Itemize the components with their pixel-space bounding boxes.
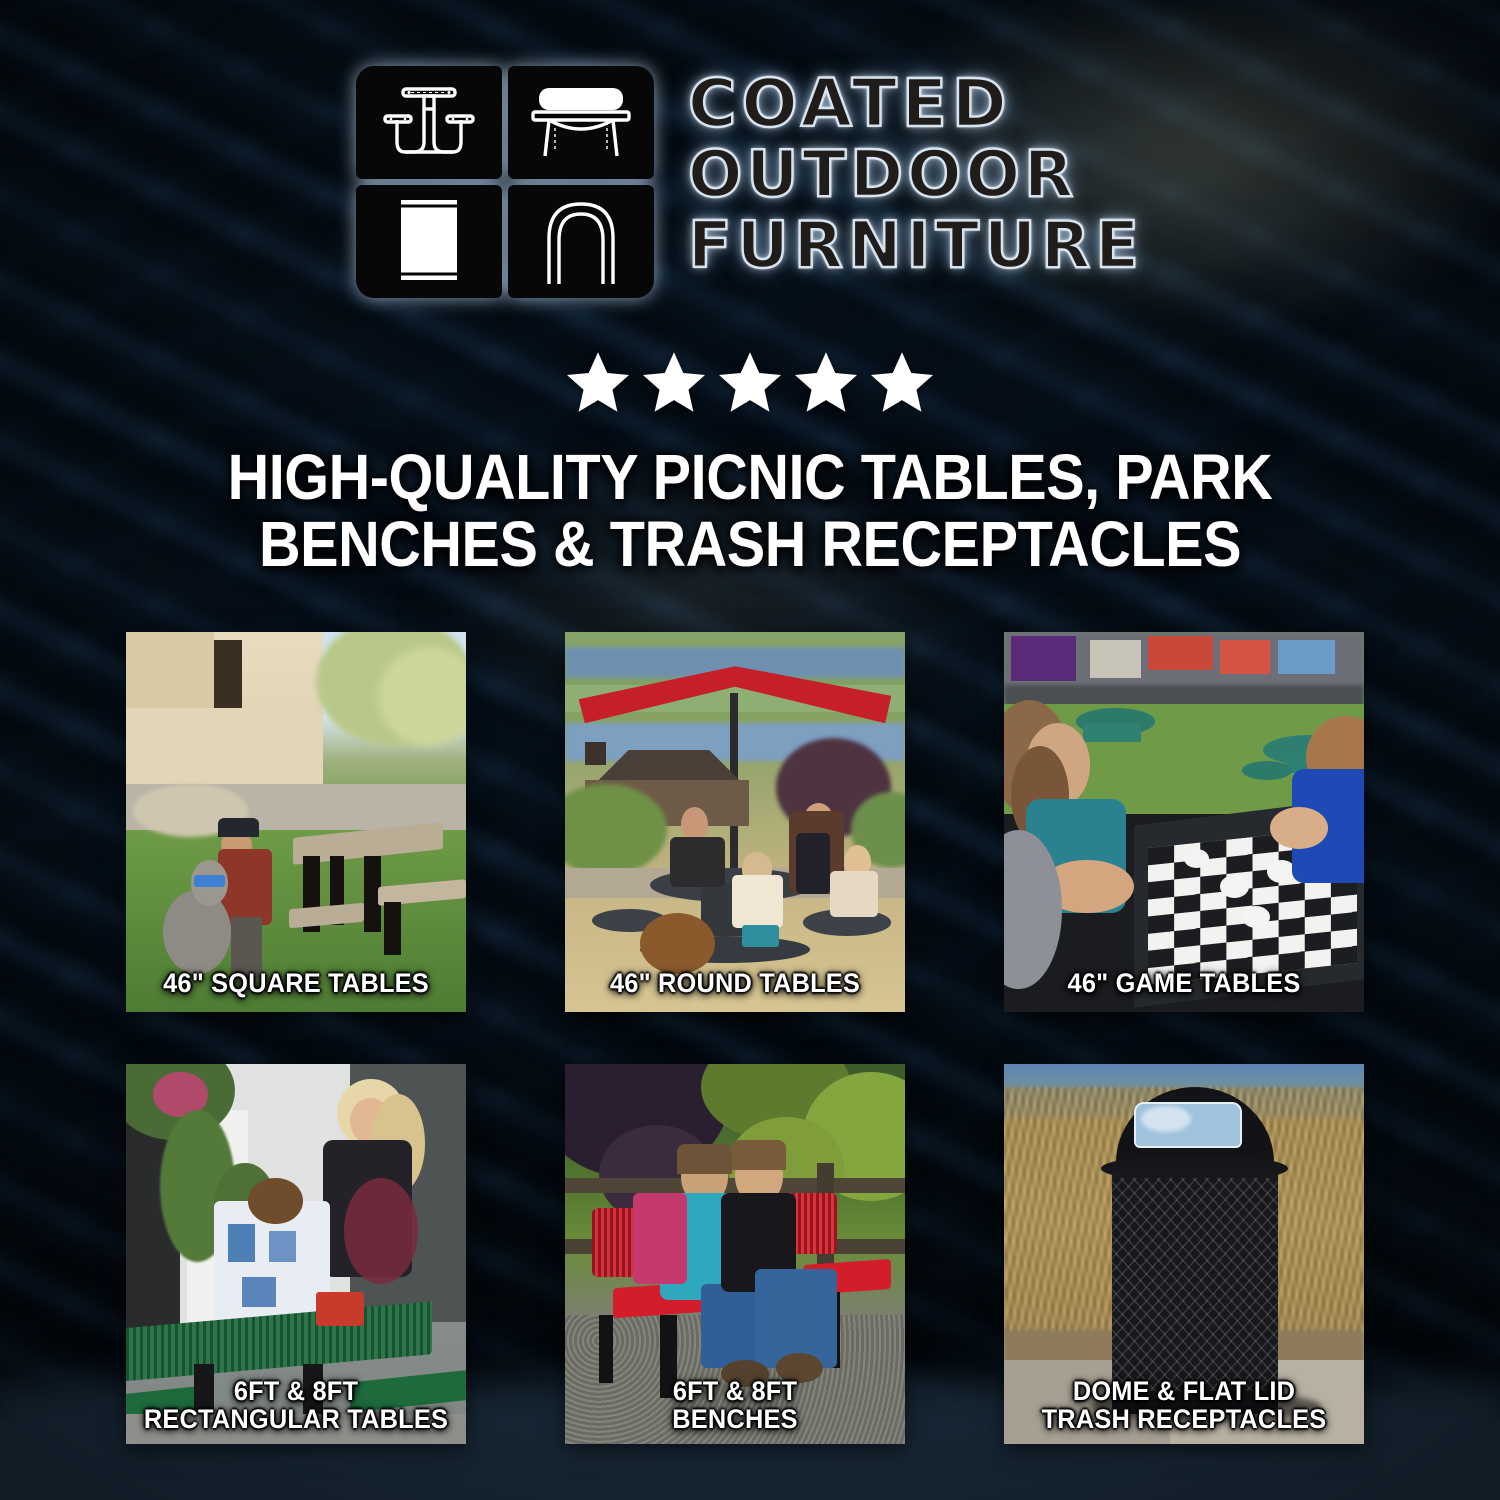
brand-name-line-1: COATED bbox=[688, 70, 1144, 138]
picnic-table-icon bbox=[356, 66, 502, 179]
headline-line-2: BENCHES & TRASH RECEPTACLES bbox=[156, 511, 1344, 578]
trash-receptacle-icon bbox=[356, 185, 502, 298]
caption-line-2: TRASH RECEPTACLES bbox=[1015, 1405, 1353, 1434]
product-card-square-tables[interactable]: 46" SQUARE TABLES bbox=[126, 632, 466, 1012]
product-card-game-tables[interactable]: 46" GAME TABLES bbox=[1004, 632, 1364, 1012]
product-card-benches[interactable]: 6FT & 8FT BENCHES bbox=[565, 1064, 905, 1444]
caption-line-2: BENCHES bbox=[575, 1405, 895, 1434]
brand-name-line-3: FURNITURE bbox=[688, 214, 1144, 280]
star-icon bbox=[719, 352, 781, 412]
product-category-grid: 46" SQUARE TABLES bbox=[126, 632, 1358, 1444]
star-icon bbox=[567, 352, 629, 412]
logo-icon-grid bbox=[356, 66, 654, 298]
caption-line-2: RECTANGULAR TABLES bbox=[136, 1405, 456, 1434]
star-icon bbox=[643, 352, 705, 412]
product-card-trash-receptacles[interactable]: DOME & FLAT LID TRASH RECEPTACLES bbox=[1004, 1064, 1364, 1444]
product-caption-rectangular-tables: 6FT & 8FT RECTANGULAR TABLES bbox=[126, 1377, 466, 1434]
product-caption-game-tables: 46" GAME TABLES bbox=[1004, 969, 1364, 998]
product-photo-square-tables bbox=[126, 632, 466, 1012]
caption-line-1: 46" SQUARE TABLES bbox=[136, 969, 456, 998]
caption-line-1: 6FT & 8FT bbox=[136, 1377, 456, 1406]
bike-rack-arch-icon bbox=[508, 185, 654, 298]
brand-wordmark: COATED OUTDOOR FURNITURE bbox=[688, 66, 1144, 280]
headline-line-1: HIGH-QUALITY PICNIC TABLES, PARK bbox=[156, 444, 1344, 511]
product-card-round-tables[interactable]: 46" ROUND TABLES bbox=[565, 632, 905, 1012]
brand-name-line-2: OUTDOOR bbox=[688, 143, 1144, 209]
promotional-banner: COATED OUTDOOR FURNITURE HIGH-QUALITY PI… bbox=[0, 0, 1500, 1500]
caption-line-1: 46" ROUND TABLES bbox=[575, 969, 895, 998]
product-caption-trash-receptacles: DOME & FLAT LID TRASH RECEPTACLES bbox=[1004, 1377, 1364, 1434]
five-star-rating bbox=[0, 352, 1500, 412]
caption-line-1: DOME & FLAT LID bbox=[1015, 1377, 1353, 1406]
caption-line-1: 6FT & 8FT bbox=[575, 1377, 895, 1406]
star-icon bbox=[795, 352, 857, 412]
park-bench-icon bbox=[508, 66, 654, 179]
product-caption-square-tables: 46" SQUARE TABLES bbox=[126, 969, 466, 998]
product-caption-benches: 6FT & 8FT BENCHES bbox=[565, 1377, 905, 1434]
brand-logo[interactable]: COATED OUTDOOR FURNITURE bbox=[0, 66, 1500, 298]
product-photo-game-tables bbox=[1004, 632, 1364, 1012]
star-icon bbox=[871, 352, 933, 412]
caption-line-1: 46" GAME TABLES bbox=[1015, 969, 1353, 998]
product-caption-round-tables: 46" ROUND TABLES bbox=[565, 969, 905, 998]
product-photo-round-tables bbox=[565, 632, 905, 1012]
product-card-rectangular-tables[interactable]: 6FT & 8FT RECTANGULAR TABLES bbox=[126, 1064, 466, 1444]
page-title: HIGH-QUALITY PICNIC TABLES, PARK BENCHES… bbox=[90, 444, 1410, 578]
